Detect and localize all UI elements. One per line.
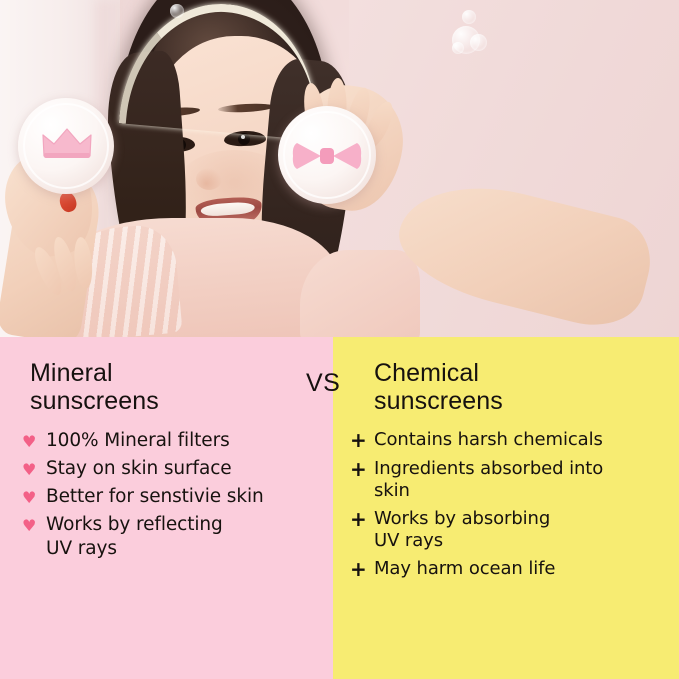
heart-icon: ♥ — [22, 429, 46, 452]
plus-icon: + — [350, 558, 374, 582]
list-item-label: Ingredients absorbed into skin — [374, 458, 603, 503]
soap-bubble — [462, 10, 476, 24]
mineral-panel: Mineral sunscreens ♥ 100% Mineral filter… — [0, 337, 333, 679]
list-item-label: Works by absorbing UV rays — [374, 508, 550, 553]
mineral-bullet-list: ♥ 100% Mineral filters ♥ Stay on skin su… — [22, 429, 332, 565]
bow-icon — [292, 138, 362, 174]
soap-bubble — [170, 4, 184, 18]
vs-label: VS — [306, 369, 340, 398]
mineral-heading: Mineral sunscreens — [30, 359, 159, 415]
heart-icon: ♥ — [22, 457, 46, 480]
dress-shoulder-right — [300, 250, 420, 337]
product-photo — [0, 0, 679, 337]
chemical-heading: Chemical sunscreens — [374, 359, 503, 415]
list-item-label: May harm ocean life — [374, 558, 555, 581]
list-item-label: Stay on skin surface — [46, 457, 232, 480]
plus-icon: + — [350, 429, 374, 453]
nose — [196, 168, 222, 190]
compact-bow — [278, 106, 376, 204]
list-item: ♥ Works by reflecting UV rays — [22, 513, 332, 559]
list-item-label: 100% Mineral filters — [46, 429, 230, 452]
plus-icon: + — [350, 508, 374, 532]
list-item: + Ingredients absorbed into skin — [350, 458, 679, 503]
list-item: ♥ Better for senstivie skin — [22, 485, 332, 508]
list-item: + Contains harsh chemicals — [350, 429, 679, 453]
compact-crown — [18, 98, 114, 194]
crown-icon — [41, 126, 93, 160]
list-item-label: Contains harsh chemicals — [374, 429, 603, 452]
comparison-section: Mineral sunscreens ♥ 100% Mineral filter… — [0, 337, 679, 679]
sunscreen-comparison-graphic: Mineral sunscreens ♥ 100% Mineral filter… — [0, 0, 679, 679]
chemical-bullet-list: + Contains harsh chemicals + Ingredients… — [350, 429, 679, 586]
list-item: ♥ Stay on skin surface — [22, 457, 332, 480]
soap-bubble — [452, 42, 464, 54]
soap-bubble — [470, 34, 487, 51]
eye-highlight-right — [241, 135, 245, 139]
list-item-label: Better for senstivie skin — [46, 485, 264, 508]
list-item: + Works by absorbing UV rays — [350, 508, 679, 553]
teeth — [200, 201, 255, 217]
plus-icon: + — [350, 458, 374, 482]
list-item: + May harm ocean life — [350, 558, 679, 582]
list-item-label: Works by reflecting UV rays — [46, 513, 223, 559]
heart-icon: ♥ — [22, 485, 46, 508]
heart-icon: ♥ — [22, 513, 46, 536]
chemical-panel: Chemical sunscreens + Contains harsh che… — [333, 337, 679, 679]
list-item: ♥ 100% Mineral filters — [22, 429, 332, 452]
